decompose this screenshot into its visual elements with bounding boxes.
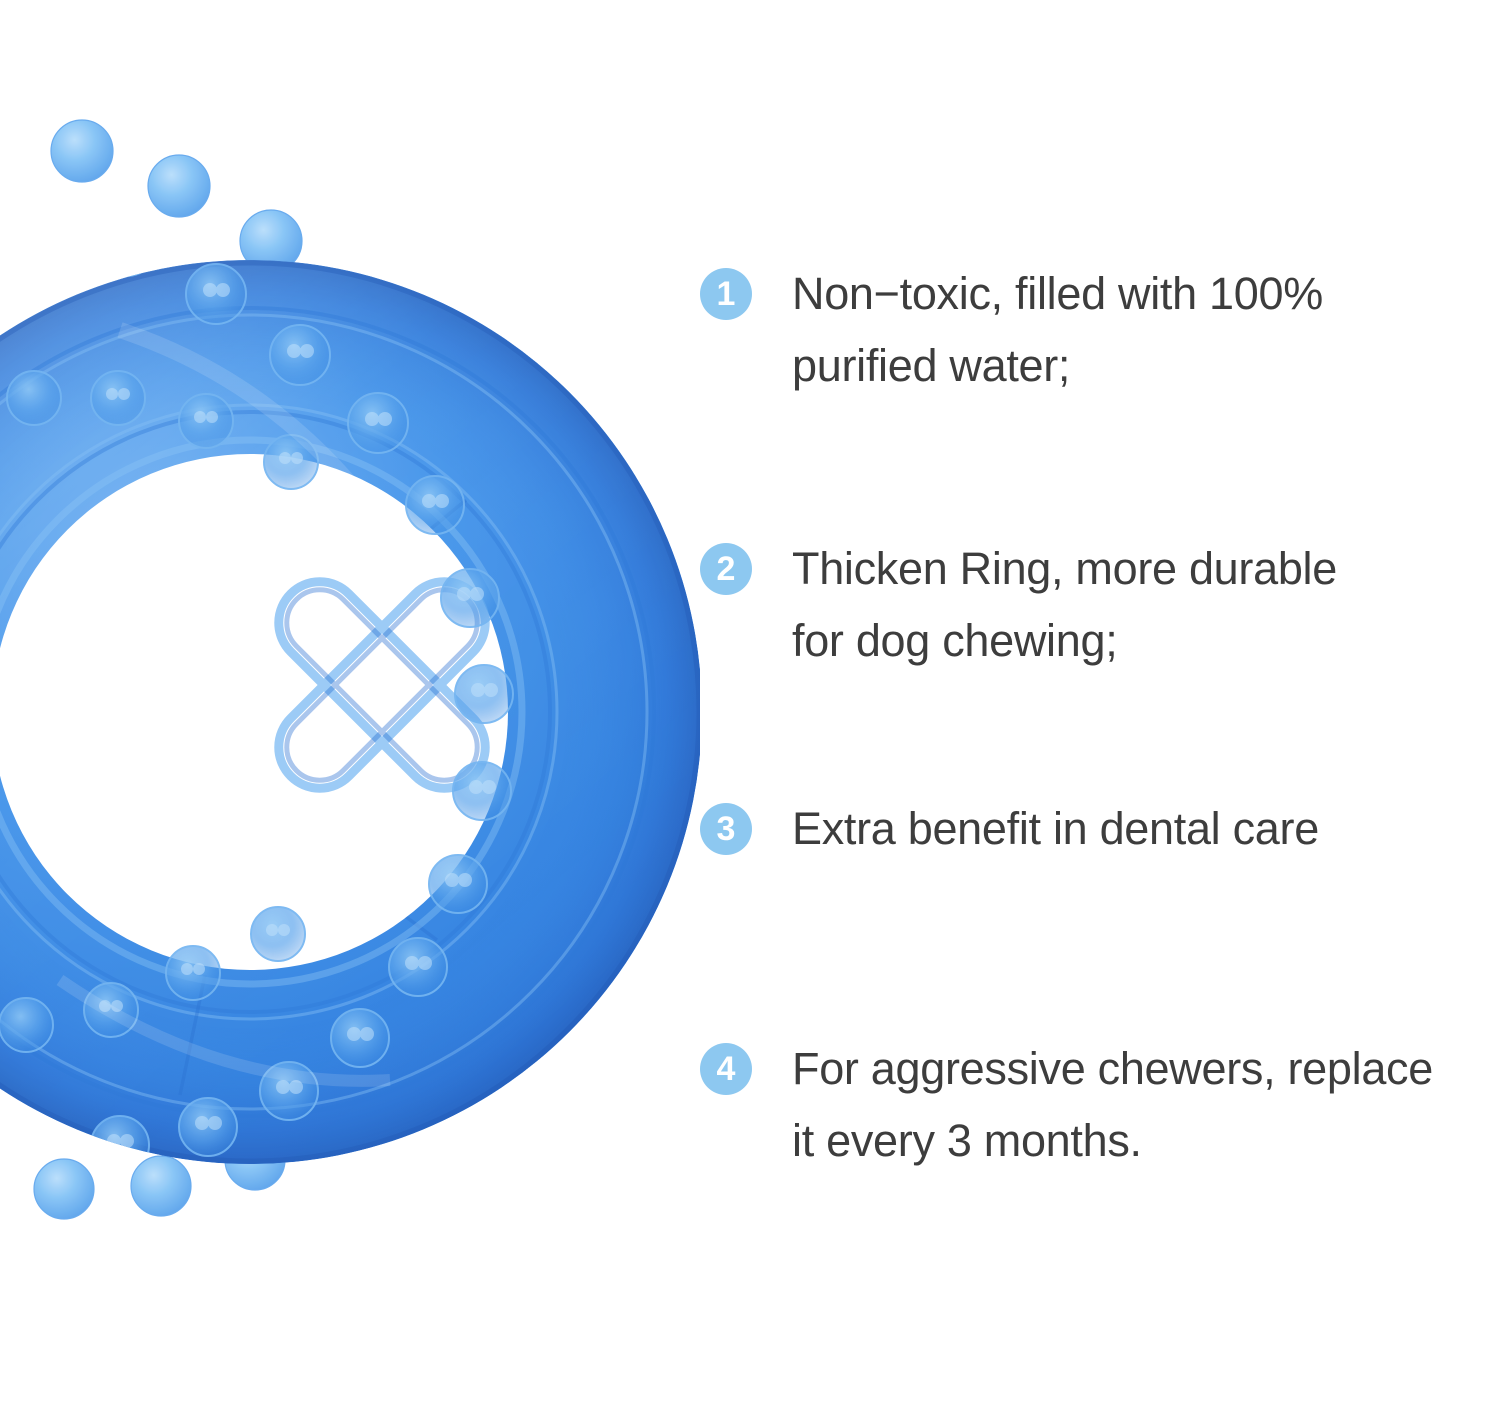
feature-list: 1 Non−toxic, filled with 100% purified w…	[700, 0, 1500, 1424]
product-image	[0, 0, 700, 1424]
feature-number-badge-4: 4	[700, 1043, 752, 1095]
feature-item-1: 1 Non−toxic, filled with 100% purified w…	[700, 258, 1500, 402]
feature-item-3: 3 Extra benefit in dental care	[700, 793, 1500, 865]
feature-item-4: 4 For aggressive chewers, replace it eve…	[700, 1033, 1500, 1177]
feature-number-badge-2: 2	[700, 543, 752, 595]
product-infographic: 1 Non−toxic, filled with 100% purified w…	[0, 0, 1500, 1424]
feature-item-2: 2 Thicken Ring, more durable for dog che…	[700, 533, 1500, 677]
feature-text-2: Thicken Ring, more durable for dog chewi…	[792, 533, 1500, 677]
dog-chew-ring-illustration	[0, 0, 700, 1424]
feature-text-3: Extra benefit in dental care	[792, 793, 1500, 865]
feature-text-4: For aggressive chewers, replace it every…	[792, 1033, 1500, 1177]
ring-body	[0, 200, 700, 1260]
feature-number-badge-3: 3	[700, 803, 752, 855]
feature-number-badge-1: 1	[700, 268, 752, 320]
feature-text-1: Non−toxic, filled with 100% purified wat…	[792, 258, 1500, 402]
